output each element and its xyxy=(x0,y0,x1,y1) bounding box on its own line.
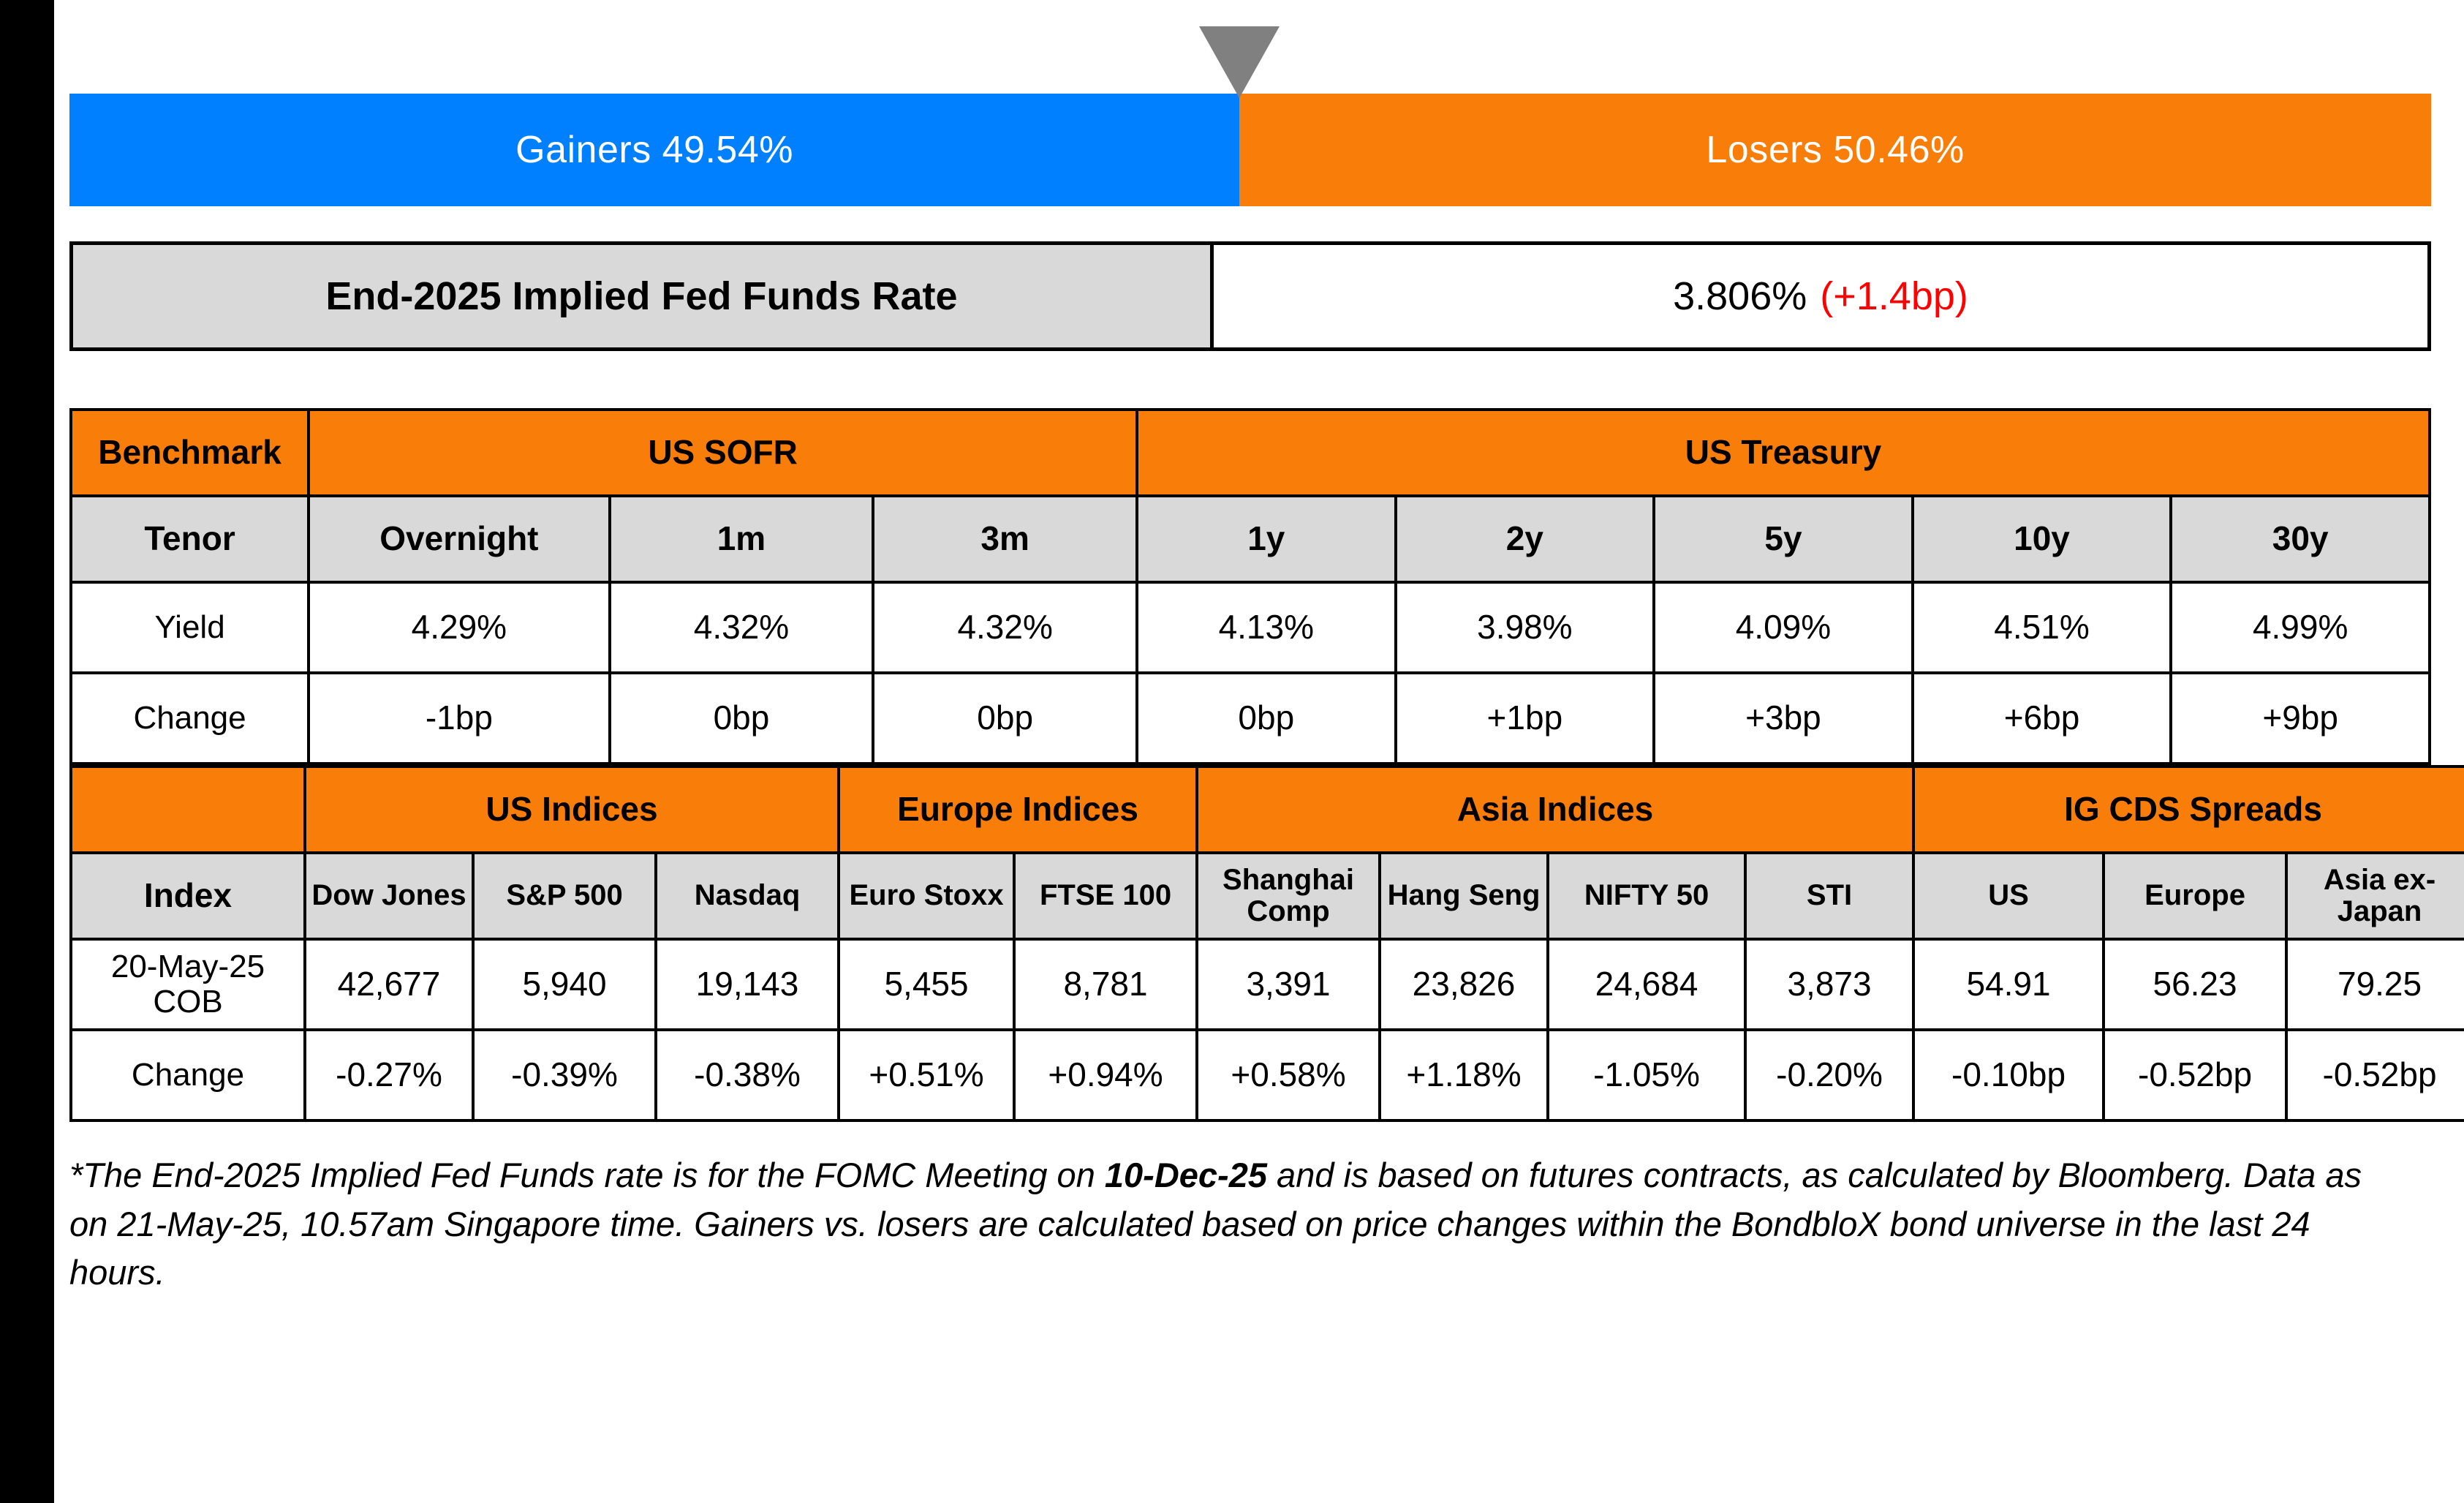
index-col-euro-stoxx: Euro Stoxx xyxy=(839,853,1014,939)
change-value-10y: +6bp xyxy=(1913,673,2172,764)
yield-value-30y: 4.99% xyxy=(2171,582,2430,673)
indices-group-header-row: US IndicesEurope IndicesAsia IndicesIG C… xyxy=(71,766,2464,853)
tenor-col-overnight: Overnight xyxy=(309,496,610,582)
indices-change-value-ftse-100: +0.94% xyxy=(1014,1030,1197,1120)
left-black-bar xyxy=(0,0,54,1503)
cob-value-europe: 56.23 xyxy=(2104,939,2286,1030)
dashboard-root: Gainers 49.54% Losers 50.46% End-2025 Im… xyxy=(0,0,2464,1503)
cob-value-shanghai-comp: 3,391 xyxy=(1197,939,1380,1030)
indices-change-value-dow-jones: -0.27% xyxy=(305,1030,473,1120)
cob-row-label: 20-May-25 COB xyxy=(71,939,305,1030)
index-col-europe: Europe xyxy=(2104,853,2286,939)
indices-group-blank xyxy=(71,766,305,853)
tenor-col-1m: 1m xyxy=(610,496,874,582)
gainers-segment[interactable]: Gainers 49.54% xyxy=(69,94,1239,206)
index-col-nasdaq: Nasdaq xyxy=(656,853,839,939)
cob-value-asia-ex-japan: 79.25 xyxy=(2286,939,2464,1030)
index-col-nifty-50: NIFTY 50 xyxy=(1548,853,1745,939)
tenor-col-2y: 2y xyxy=(1396,496,1655,582)
index-col-s-p-500: S&P 500 xyxy=(473,853,656,939)
cob-value-hang-seng: 23,826 xyxy=(1380,939,1548,1030)
tenor-col-30y: 30y xyxy=(2171,496,2430,582)
tenor-col-3m: 3m xyxy=(873,496,1137,582)
benchmark-tenor-header-row: TenorOvernight1m3m1y2y5y10y30y xyxy=(71,496,2430,582)
footnote-bold-date: 10-Dec-25 xyxy=(1105,1156,1267,1194)
indices-group-ig-cds-spreads: IG CDS Spreads xyxy=(1913,766,2464,853)
indices-change-value-s-p-500: -0.39% xyxy=(473,1030,656,1120)
cob-value-dow-jones: 42,677 xyxy=(305,939,473,1030)
benchmark-group-us-treasury: US Treasury xyxy=(1137,410,2430,496)
footnote-part1: *The End-2025 Implied Fed Funds rate is … xyxy=(69,1156,1105,1194)
gainers-losers-bar: Gainers 49.54% Losers 50.46% xyxy=(69,94,2431,206)
index-col-sti: STI xyxy=(1745,853,1913,939)
indices-change-value-shanghai-comp: +0.58% xyxy=(1197,1030,1380,1120)
fed-funds-rate: 3.806% xyxy=(1673,274,1807,319)
benchmark-change-row: Change-1bp0bp0bp0bp+1bp+3bp+6bp+9bp xyxy=(71,673,2430,764)
benchmark-yield-row: Yield4.29%4.32%4.32%4.13%3.98%4.09%4.51%… xyxy=(71,582,2430,673)
split-marker-triangle-icon xyxy=(1199,26,1280,98)
indices-change-value-us: -0.10bp xyxy=(1913,1030,2104,1120)
indices-change-value-euro-stoxx: +0.51% xyxy=(839,1030,1014,1120)
change-row-label: Change xyxy=(71,673,309,764)
index-col-dow-jones: Dow Jones xyxy=(305,853,473,939)
yield-value-3m: 4.32% xyxy=(873,582,1137,673)
cob-value-euro-stoxx: 5,455 xyxy=(839,939,1014,1030)
yield-row-label: Yield xyxy=(71,582,309,673)
benchmark-group-header-row: BenchmarkUS SOFRUS Treasury xyxy=(71,410,2430,496)
index-col-shanghai-comp: Shanghai Comp xyxy=(1197,853,1380,939)
fed-funds-row: End-2025 Implied Fed Funds Rate 3.806% (… xyxy=(69,241,2431,351)
index-col-ftse-100: FTSE 100 xyxy=(1014,853,1197,939)
indices-change-row: Change-0.27%-0.39%-0.38%+0.51%+0.94%+0.5… xyxy=(71,1030,2464,1120)
indices-change-value-asia-ex-japan: -0.52bp xyxy=(2286,1030,2464,1120)
change-value-2y: +1bp xyxy=(1396,673,1655,764)
change-value-1y: 0bp xyxy=(1137,673,1396,764)
indices-change-value-sti: -0.20% xyxy=(1745,1030,1913,1120)
benchmark-table: BenchmarkUS SOFRUS Treasury TenorOvernig… xyxy=(69,408,2431,765)
cob-value-us: 54.91 xyxy=(1913,939,2104,1030)
indices-cob-row: 20-May-25 COB42,6775,94019,1435,4558,781… xyxy=(71,939,2464,1030)
index-col-hang-seng: Hang Seng xyxy=(1380,853,1548,939)
tenor-col-1y: 1y xyxy=(1137,496,1396,582)
yield-value-1m: 4.32% xyxy=(610,582,874,673)
index-col-us: US xyxy=(1913,853,2104,939)
indices-table: US IndicesEurope IndicesAsia IndicesIG C… xyxy=(69,765,2464,1122)
tenor-col-5y: 5y xyxy=(1654,496,1913,582)
cob-value-sti: 3,873 xyxy=(1745,939,1913,1030)
change-value-5y: +3bp xyxy=(1654,673,1913,764)
cob-value-nifty-50: 24,684 xyxy=(1548,939,1745,1030)
benchmark-group-us-sofr: US SOFR xyxy=(309,410,1137,496)
indices-column-header-row: IndexDow JonesS&P 500NasdaqEuro StoxxFTS… xyxy=(71,853,2464,939)
indices-change-value-nifty-50: -1.05% xyxy=(1548,1030,1745,1120)
indices-change-row-label: Change xyxy=(71,1030,305,1120)
tenor-header: Tenor xyxy=(71,496,309,582)
change-value-3m: 0bp xyxy=(873,673,1137,764)
cob-value-s-p-500: 5,940 xyxy=(473,939,656,1030)
yield-value-2y: 3.98% xyxy=(1396,582,1655,673)
yield-value-overnight: 4.29% xyxy=(309,582,610,673)
index-header: Index xyxy=(71,853,305,939)
cob-value-ftse-100: 8,781 xyxy=(1014,939,1197,1030)
fed-funds-value-cell: 3.806% (+1.4bp) xyxy=(1214,245,2427,347)
fed-funds-label: End-2025 Implied Fed Funds Rate xyxy=(73,245,1214,347)
yield-value-10y: 4.51% xyxy=(1913,582,2172,673)
footnote: *The End-2025 Implied Fed Funds rate is … xyxy=(69,1151,2395,1297)
content-area: Gainers 49.54% Losers 50.46% End-2025 Im… xyxy=(69,0,2449,1503)
cob-value-nasdaq: 19,143 xyxy=(656,939,839,1030)
fed-funds-change: (+1.4bp) xyxy=(1820,274,1968,319)
index-col-asia-ex-japan: Asia ex-Japan xyxy=(2286,853,2464,939)
gainers-label: Gainers 49.54% xyxy=(515,128,793,172)
indices-group-asia-indices: Asia Indices xyxy=(1197,766,1913,853)
indices-change-value-europe: -0.52bp xyxy=(2104,1030,2286,1120)
indices-change-value-hang-seng: +1.18% xyxy=(1380,1030,1548,1120)
indices-group-europe-indices: Europe Indices xyxy=(839,766,1197,853)
change-value-30y: +9bp xyxy=(2171,673,2430,764)
indices-change-value-nasdaq: -0.38% xyxy=(656,1030,839,1120)
losers-segment[interactable]: Losers 50.46% xyxy=(1239,94,2431,206)
yield-value-1y: 4.13% xyxy=(1137,582,1396,673)
yield-value-5y: 4.09% xyxy=(1654,582,1913,673)
change-value-1m: 0bp xyxy=(610,673,874,764)
tenor-col-10y: 10y xyxy=(1913,496,2172,582)
losers-label: Losers 50.46% xyxy=(1706,128,1964,172)
change-value-overnight: -1bp xyxy=(309,673,610,764)
benchmark-group-benchmark: Benchmark xyxy=(71,410,309,496)
indices-group-us-indices: US Indices xyxy=(305,766,839,853)
